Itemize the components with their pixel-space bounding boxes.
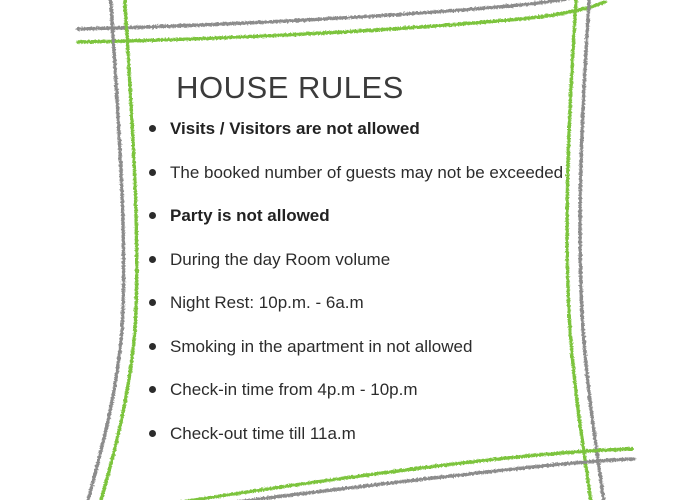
bullet-icon — [149, 299, 156, 306]
house-rules-page: HOUSE RULES Visits / Visitors are not al… — [0, 0, 700, 500]
rules-list: Visits / Visitors are not allowed The bo… — [148, 118, 563, 466]
list-item-label: Night Rest: 10p.m. - 6a.m — [170, 292, 364, 313]
page-content: HOUSE RULES Visits / Visitors are not al… — [0, 0, 700, 500]
list-item: The booked number of guests may not be e… — [148, 162, 563, 206]
list-item-label: During the day Room volume — [170, 249, 390, 270]
list-item: Check-out time till 11a.m — [148, 423, 563, 467]
list-item: Visits / Visitors are not allowed — [148, 118, 563, 162]
list-item-label: Visits / Visitors are not allowed — [170, 118, 420, 139]
list-item-label: Party is not allowed — [170, 205, 330, 226]
list-item: Night Rest: 10p.m. - 6a.m — [148, 292, 563, 336]
list-item: Check-in time from 4p.m - 10p.m — [148, 379, 563, 423]
bullet-icon — [149, 430, 156, 437]
list-item: During the day Room volume — [148, 249, 563, 293]
bullet-icon — [149, 343, 156, 350]
list-item: Smoking in the apartment in not allowed — [148, 336, 563, 380]
bullet-icon — [149, 169, 156, 176]
list-item-label: Check-in time from 4p.m - 10p.m — [170, 379, 418, 400]
list-item-label: Check-out time till 11a.m — [170, 423, 356, 444]
bullet-icon — [149, 256, 156, 263]
list-item: Party is not allowed — [148, 205, 563, 249]
bullet-icon — [149, 386, 156, 393]
bullet-icon — [149, 125, 156, 132]
bullet-icon — [149, 212, 156, 219]
list-item-label: The booked number of guests may not be e… — [170, 162, 563, 183]
list-item-label: Smoking in the apartment in not allowed — [170, 336, 472, 357]
page-title: HOUSE RULES — [0, 70, 580, 106]
